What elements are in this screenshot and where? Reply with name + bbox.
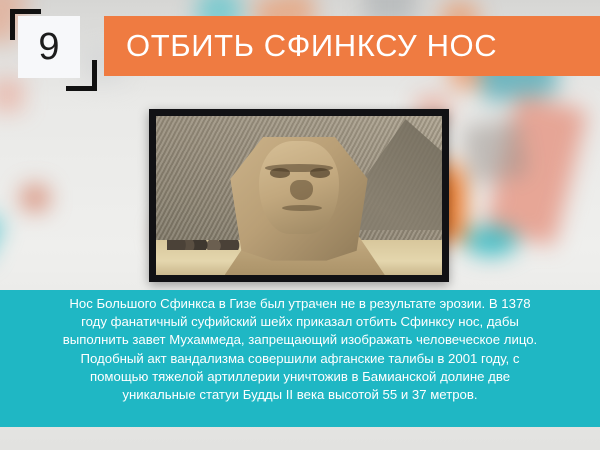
photo-frame (149, 109, 449, 282)
caption-line: году фанатичный суфийский шейх приказал … (17, 313, 583, 331)
confetti-shape (464, 226, 518, 256)
caption-line: Подобный акт вандализма совершили афганс… (17, 350, 583, 368)
tourists-group (167, 240, 241, 250)
slide-number-value: 9 (38, 28, 59, 66)
corner-bracket-bottom-right-icon (66, 60, 97, 91)
caption-text: Нос Большого Сфинкса в Гизе был утрачен … (17, 295, 583, 404)
slide-number-badge: 9 (6, 6, 96, 90)
slide: 9 ОТБИТЬ СФИНКСУ НОС Нос Большого Сфинкс… (0, 0, 600, 450)
sphinx-photo (156, 116, 442, 275)
caption-line: помощью тяжелой артиллерии уничтожив в Б… (17, 368, 583, 386)
confetti-shape (20, 184, 50, 212)
caption-line: Нос Большого Сфинкса в Гизе был утрачен … (17, 295, 583, 313)
slide-title: ОТБИТЬ СФИНКСУ НОС (104, 28, 497, 64)
caption-line: уникальные статуи Будды II века высотой … (17, 386, 583, 404)
confetti-shape (0, 202, 5, 264)
caption-panel: Нос Большого Сфинкса в Гизе был утрачен … (0, 290, 600, 427)
confetti-shape (461, 117, 528, 184)
caption-line: выполнить завет Мухаммеда, запрещающий и… (17, 331, 583, 349)
title-bar: ОТБИТЬ СФИНКСУ НОС (104, 16, 600, 76)
